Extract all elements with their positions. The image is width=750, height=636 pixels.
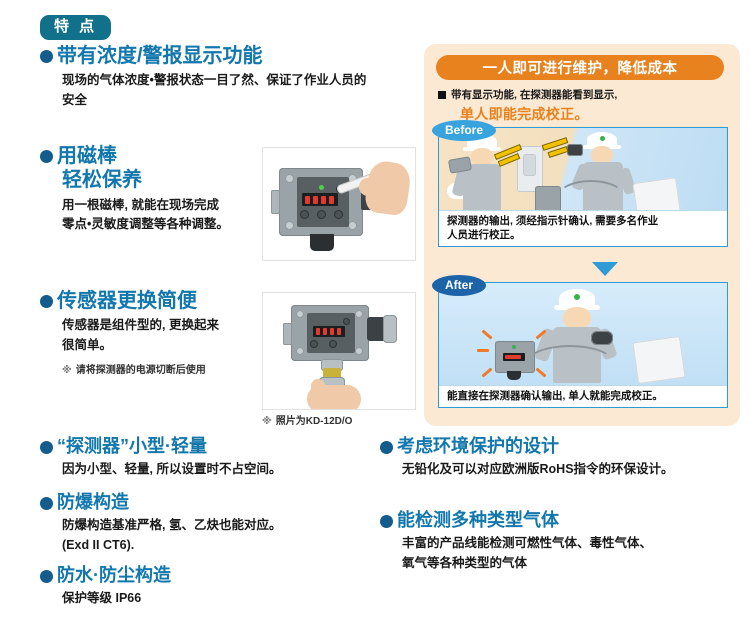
feature-title: “探测器”小型·轻量 bbox=[40, 436, 281, 456]
feature-body-line: 无铅化及可以对应欧洲版RoHS指令的环保设计。 bbox=[402, 460, 674, 479]
feature-body: 丰富的产品线能检测可燃性气体、毒性气体、 氧气等各种类型的气体 bbox=[402, 534, 652, 573]
feature-title-text: “探测器”小型·轻量 bbox=[57, 436, 207, 456]
bullet-dot-icon bbox=[40, 441, 53, 454]
square-bullet-icon bbox=[438, 91, 446, 99]
feature-title-text: 传感器更换简便 bbox=[57, 290, 197, 312]
note-mark-icon: ※ bbox=[62, 365, 72, 376]
feature-title-text: 用磁棒 bbox=[57, 145, 117, 167]
feature-title-text: 轻松保养 bbox=[62, 169, 142, 191]
after-illustration: 能直接在探测器确认输出, 单人就能完成校正。 bbox=[438, 282, 728, 408]
feature-eco-design: 考虑环境保护的设计 无铅化及可以对应欧洲版RoHS指令的环保设计。 bbox=[380, 436, 674, 480]
feature-title-text: 防水·防尘构造 bbox=[57, 565, 171, 585]
feature-magnet-maintenance: 用磁棒 轻松保养 用一根磁棒, 就能在现场完成 零点•灵敏度调整等各种调整。 bbox=[40, 145, 229, 235]
feature-sheet: 特 点 带有浓度/警报显示功能 现场的气体浓度•警报状态一目了然、保证了作业人员… bbox=[0, 0, 750, 636]
feature-body: 防爆构造基准严格, 氢、乙炔也能对应。 (Exd II CT6). bbox=[62, 516, 281, 555]
bullet-dot-icon bbox=[40, 150, 53, 163]
feature-body: 因为小型、轻量, 所以设置时不占空间。 bbox=[62, 460, 281, 479]
tag-after: After bbox=[432, 275, 486, 296]
feature-body-line: 很简单。 bbox=[62, 336, 219, 355]
panel-note-text: 带有显示功能, 在探测器能看到显示, bbox=[451, 88, 617, 102]
caption-mark-icon: ※ bbox=[262, 416, 272, 427]
feature-body-line: 氧气等各种类型的气体 bbox=[402, 554, 652, 573]
photo-sensor-unit bbox=[262, 292, 416, 410]
panel-title: 一人即可进行维护，降低成本 bbox=[436, 55, 724, 80]
panel-note: 带有显示功能, 在探测器能看到显示, bbox=[438, 88, 728, 102]
feature-display-alarm: 带有浓度/警报显示功能 现场的气体浓度•警报状态一目了然、保证了作业人员的 安全 bbox=[40, 45, 366, 110]
feature-title-second-line: 轻松保养 bbox=[62, 169, 229, 191]
feature-body: 用一根磁棒, 就能在现场完成 零点•灵敏度调整等各种调整。 bbox=[62, 196, 229, 235]
photo-magnet-wand bbox=[262, 147, 416, 261]
caption-text: 照片为KD-12D/O bbox=[276, 416, 353, 427]
feature-title-text: 能检测多种类型气体 bbox=[397, 510, 559, 530]
bullet-dot-icon bbox=[380, 441, 393, 454]
before-caption-line: 人员进行校正。 bbox=[447, 228, 721, 242]
feature-waterproof-dustproof: 防水·防尘构造 保护等级 IP66 bbox=[40, 565, 171, 609]
arrow-down-icon bbox=[592, 262, 618, 276]
bullet-dot-icon bbox=[40, 295, 53, 308]
after-caption-line: 能直接在探测器确认输出, 单人就能完成校正。 bbox=[447, 389, 721, 403]
feature-title-text: 考虑环境保护的设计 bbox=[397, 436, 559, 456]
note-text: 请将探测器的电源切断后使用 bbox=[76, 365, 206, 376]
feature-body-line: 丰富的产品线能检测可燃性气体、毒性气体、 bbox=[402, 534, 652, 553]
feature-title: 传感器更换简便 bbox=[40, 290, 219, 312]
feature-title-text: 带有浓度/警报显示功能 bbox=[57, 45, 263, 67]
feature-body: 传感器是组件型的, 更换起来 很简单。 bbox=[62, 316, 219, 355]
feature-body-line: 安全 bbox=[62, 91, 366, 110]
feature-title: 用磁棒 bbox=[40, 145, 229, 167]
before-caption-line: 探测器的输出, 须经指示针确认, 需要多名作业 bbox=[447, 214, 721, 228]
feature-title: 防爆构造 bbox=[40, 492, 281, 512]
feature-title-text: 防爆构造 bbox=[57, 492, 129, 512]
feature-body: 保护等级 IP66 bbox=[62, 589, 171, 608]
bullet-dot-icon bbox=[380, 515, 393, 528]
feature-title: 防水·防尘构造 bbox=[40, 565, 171, 585]
benefit-panel: 一人即可进行维护，降低成本 带有显示功能, 在探测器能看到显示, 单人即能完成校… bbox=[424, 44, 740, 426]
feature-note: ※请将探测器的电源切断后使用 bbox=[62, 361, 219, 376]
feature-body-line: (Exd II CT6). bbox=[62, 536, 281, 555]
feature-body-line: 用一根磁棒, 就能在现场完成 bbox=[62, 196, 229, 215]
feature-body-line: 零点•灵敏度调整等各种调整。 bbox=[62, 215, 229, 234]
feature-title: 考虑环境保护的设计 bbox=[380, 436, 674, 456]
photo-caption: ※照片为KD-12D/O bbox=[262, 412, 352, 427]
feature-body: 无铅化及可以对应欧洲版RoHS指令的环保设计。 bbox=[402, 460, 674, 479]
bullet-dot-icon bbox=[40, 497, 53, 510]
after-caption: 能直接在探测器确认输出, 单人就能完成校正。 bbox=[439, 385, 727, 407]
feature-title: 能检测多种类型气体 bbox=[380, 510, 652, 530]
photo-illustration bbox=[263, 148, 415, 260]
before-caption: 探测器的输出, 须经指示针确认, 需要多名作业 人员进行校正。 bbox=[439, 210, 727, 246]
feature-body: 现场的气体浓度•警报状态一目了然、保证了作业人员的 安全 bbox=[62, 71, 366, 110]
feature-body-line: 因为小型、轻量, 所以设置时不占空间。 bbox=[62, 460, 281, 479]
bullet-dot-icon bbox=[40, 570, 53, 583]
feature-body-line: 现场的气体浓度•警报状态一目了然、保证了作业人员的 bbox=[62, 71, 366, 90]
feature-compact-light: “探测器”小型·轻量 因为小型、轻量, 所以设置时不占空间。 bbox=[40, 436, 281, 480]
before-illustration: 探测器的输出, 须经指示针确认, 需要多名作业 人员进行校正。 bbox=[438, 127, 728, 247]
feature-body-line: 保护等级 IP66 bbox=[62, 589, 171, 608]
feature-multi-gas: 能检测多种类型气体 丰富的产品线能检测可燃性气体、毒性气体、 氧气等各种类型的气… bbox=[380, 510, 652, 573]
feature-title: 带有浓度/警报显示功能 bbox=[40, 45, 366, 67]
feature-body-line: 防爆构造基准严格, 氢、乙炔也能对应。 bbox=[62, 516, 281, 535]
section-badge: 特 点 bbox=[40, 15, 111, 40]
feature-explosion-proof: 防爆构造 防爆构造基准严格, 氢、乙炔也能对应。 (Exd II CT6). bbox=[40, 492, 281, 555]
feature-sensor-replacement: 传感器更换简便 传感器是组件型的, 更换起来 很简单。 ※请将探测器的电源切断后… bbox=[40, 290, 219, 376]
feature-body-line: 传感器是组件型的, 更换起来 bbox=[62, 316, 219, 335]
bullet-dot-icon bbox=[40, 50, 53, 63]
tag-before: Before bbox=[432, 120, 496, 141]
photo-illustration bbox=[263, 293, 415, 409]
